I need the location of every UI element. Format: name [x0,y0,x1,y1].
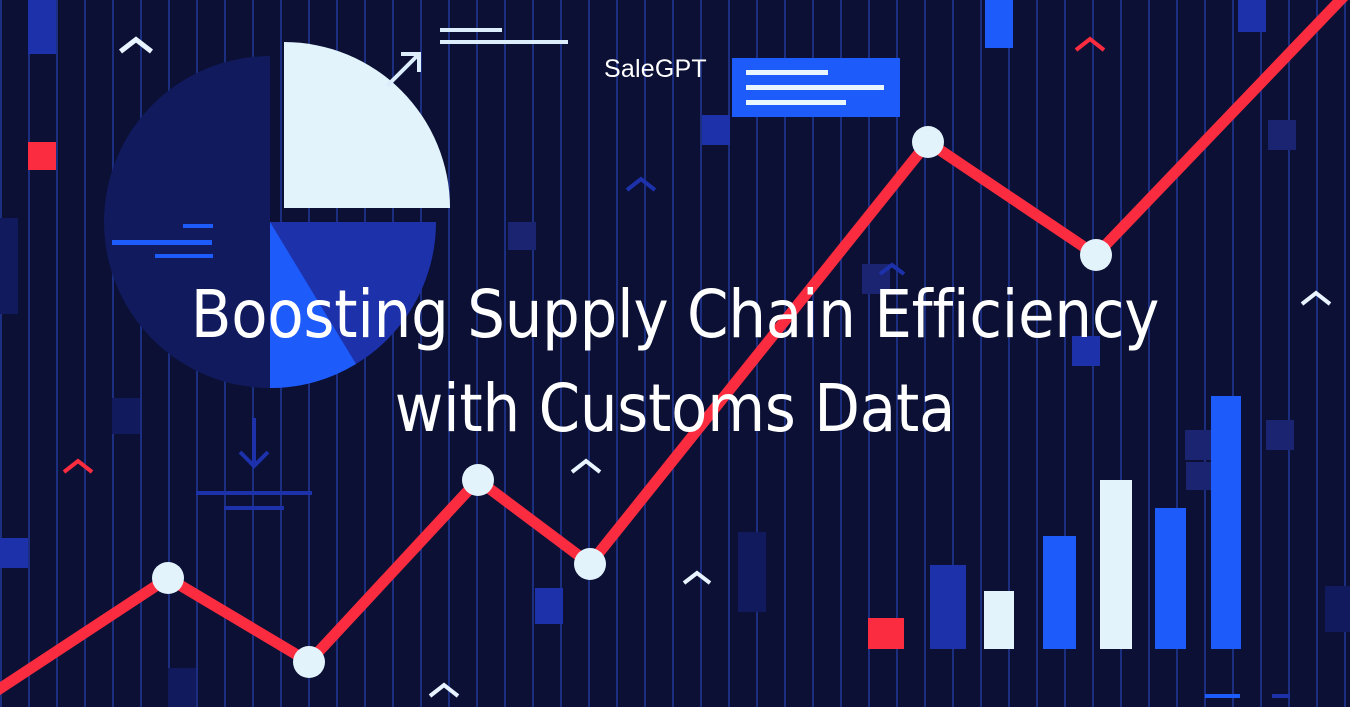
rect-mid-upper [508,222,536,250]
card-line-1 [746,70,828,75]
blue-underline-2 [224,506,284,510]
tick-1 [1205,694,1240,698]
line-chart-marker [574,548,606,580]
rect-right-upper-blue [1238,0,1266,32]
card-line-3 [746,100,846,105]
bar-6 [1155,508,1186,649]
blue-line-2 [112,240,212,245]
line-chart-marker [152,562,184,594]
poster-canvas: SaleGPT Boosting Supply Chain Efficiency… [0,0,1350,707]
line-chart-marker [462,464,494,496]
chevron-up-icon-2 [1074,36,1106,52]
tick-2 [1272,694,1290,698]
chevron-up-icon-9 [428,682,460,698]
bar-5 [1100,480,1132,649]
chevron-up-icon-3 [625,176,657,192]
rect-right-dark-2 [1268,120,1296,150]
rect-mid-low [535,588,563,624]
rect-left-bottom [168,668,196,707]
card-line-2 [746,85,884,90]
brand-name: SaleGPT [604,55,707,84]
blue-underline-1 [196,491,312,495]
rect-center-tall [738,532,766,612]
rect-right-tallblue [985,0,1013,48]
arrow-up-right-icon [385,46,429,90]
chevron-up-icon-1 [118,36,154,54]
line-chart-marker [912,126,944,158]
bar-1 [868,618,904,649]
blue-line-3 [155,254,213,258]
rect-topleft-blue [28,0,56,54]
line-chart-marker [293,646,325,678]
page-title: Boosting Supply Chain Efficiency with Cu… [0,268,1350,456]
bar-2 [930,565,966,649]
rect-far-right-bottom [1325,586,1350,632]
rect-topleft-red [28,142,56,170]
line-chart-marker [1080,239,1112,271]
chevron-up-icon-6 [62,458,94,474]
bar-4 [1043,536,1076,649]
pale-line-short [440,28,502,32]
rect-mid-right [702,115,730,145]
pale-line-long [440,40,568,44]
rect-left-mid [0,538,28,568]
chevron-up-icon-8 [682,570,712,585]
blue-line-1 [183,224,213,228]
info-card [732,58,900,117]
chevron-up-icon-7 [570,458,602,474]
bar-3 [984,591,1014,649]
